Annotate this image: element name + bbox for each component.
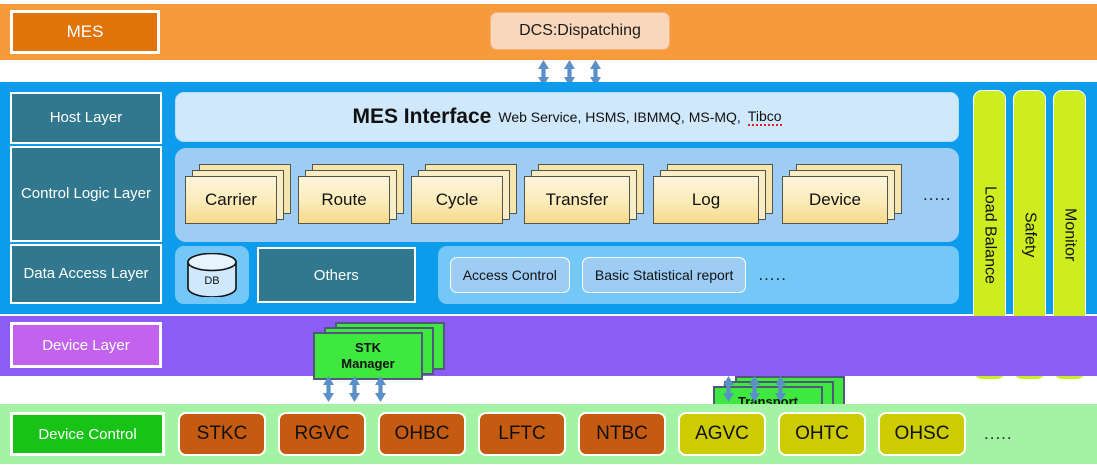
layer-host-label: Host Layer [50,109,123,127]
control-logic-panel: Carrier Route Cycle Transfer Log Device … [175,148,959,242]
controller-rgvc[interactable]: RGVC [278,412,366,456]
layer-host[interactable]: Host Layer [10,92,162,144]
stk-arrow-cluster [322,376,387,402]
layer-data-access[interactable]: Data Access Layer [10,244,162,304]
module-card-carrier[interactable]: Carrier [185,164,289,226]
manager-front: STK Manager [313,332,423,380]
data-access-chips-panel: Access Control Basic Statistical report … [438,246,959,304]
layer-data-access-label: Data Access Layer [23,265,148,283]
module-card-log[interactable]: Log [653,164,773,226]
column-load-balance-label: Load Balance [981,186,999,284]
manager-stk-line2: Manager [341,356,394,371]
double-headed-vertical-arrow-icon [774,376,787,402]
double-headed-vertical-arrow-icon [322,376,335,402]
controller-stkc[interactable]: STKC [178,412,266,456]
column-safety-label: Safety [1021,212,1039,257]
controller-rgvc-label: RGVC [295,423,350,445]
controller-agvc-label: AGVC [695,423,749,445]
mes-label: MES [67,22,104,42]
double-headed-vertical-arrow-icon [748,376,761,402]
module-card-cycle[interactable]: Cycle [411,164,515,226]
controller-ntbc-label: NTBC [596,423,648,445]
card-label: Transfer [524,176,630,224]
device-control-label: Device Control [38,426,136,443]
card-label: Cycle [411,176,503,224]
manager-stk[interactable]: STK Manager [313,322,441,376]
controller-ohbc-label: OHBC [395,423,450,445]
double-headed-vertical-arrow-icon [348,376,361,402]
controller-ntbc[interactable]: NTBC [578,412,666,456]
column-monitor-label: Monitor [1061,208,1079,261]
chip-basic-statistical-report-label: Basic Statistical report [595,267,734,283]
data-access-panel: DB Others Access Control Basic Statistic… [175,246,959,304]
layer-control-logic-label: Control Logic Layer [21,185,151,203]
device-layer-band [0,316,1097,376]
device-layer-label: Device Layer [42,337,130,354]
module-card-route[interactable]: Route [298,164,402,226]
others-label: Others [314,267,359,284]
svg-text:DB: DB [204,275,219,287]
controller-ohsc-label: OHSC [895,423,950,445]
card-label: Log [653,176,759,224]
controller-list: STKC RGVC OHBC LFTC NTBC AGVC OHTC OHSC … [178,412,1013,456]
controller-stkc-label: STKC [197,423,248,445]
module-card-device[interactable]: Device [782,164,902,226]
others-box[interactable]: Others [257,247,416,303]
controller-ellipsis: ..... [984,424,1013,444]
device-layer-box[interactable]: Device Layer [10,322,162,368]
control-modules-ellipsis: ..... [923,185,952,205]
database-holder[interactable]: DB [175,246,249,304]
chip-basic-statistical-report[interactable]: Basic Statistical report [582,257,747,293]
controller-lftc[interactable]: LFTC [478,412,566,456]
double-headed-vertical-arrow-icon [722,376,735,402]
dcs-label: DCS:Dispatching [519,22,641,40]
chip-access-control-label: Access Control [463,267,557,283]
mes-interface-panel[interactable]: MES Interface Web Service, HSMS, IBMMQ, … [175,92,959,142]
card-label: Carrier [185,176,277,224]
mes-interface-protocols: Web Service, HSMS, IBMMQ, MS-MQ, [498,109,740,125]
mes-box[interactable]: MES [10,10,160,54]
controller-lftc-label: LFTC [498,423,546,445]
controller-ohsc[interactable]: OHSC [878,412,966,456]
module-card-transfer[interactable]: Transfer [524,164,644,226]
layer-control-logic[interactable]: Control Logic Layer [10,146,162,242]
dcs-dispatching-box[interactable]: DCS:Dispatching [490,12,670,50]
device-control-box[interactable]: Device Control [10,412,165,456]
transport-arrow-cluster [722,376,787,402]
controller-ohtc-label: OHTC [795,423,849,445]
data-access-ellipsis: ..... [758,265,787,285]
mes-interface-title: MES Interface [352,105,491,129]
database-cylinder-icon: DB [184,253,240,297]
controller-agvc[interactable]: AGVC [678,412,766,456]
double-headed-vertical-arrow-icon [374,376,387,402]
chip-access-control[interactable]: Access Control [450,257,570,293]
controller-ohbc[interactable]: OHBC [378,412,466,456]
card-label: Route [298,176,390,224]
manager-stk-line1: STK [355,340,381,355]
card-label: Device [782,176,888,224]
mes-interface-protocol-tibco: Tibco [748,108,782,126]
controller-ohtc[interactable]: OHTC [778,412,866,456]
